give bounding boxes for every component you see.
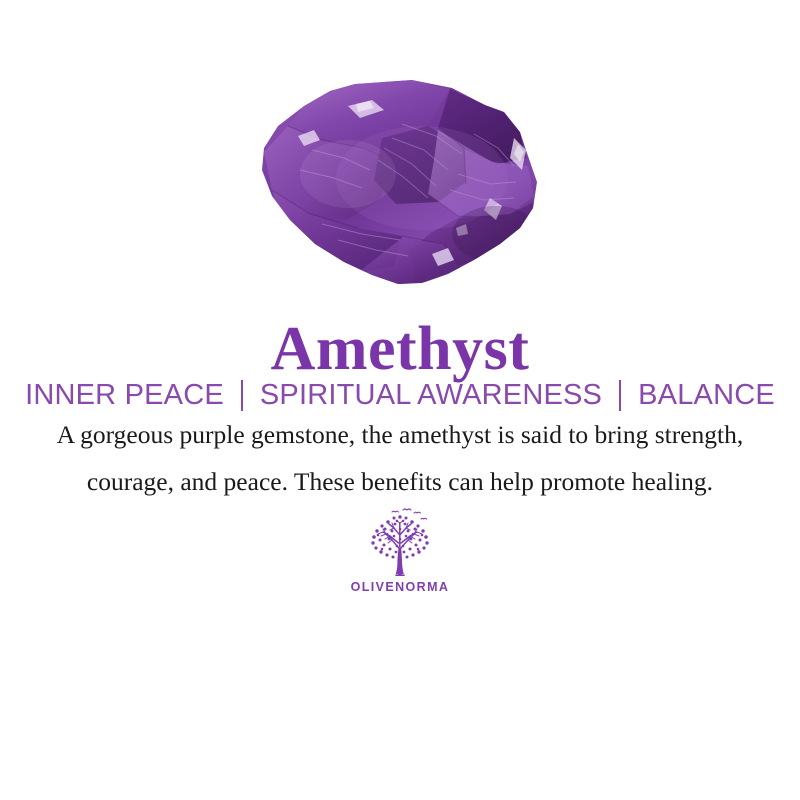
brand-wordmark: OLIVENORMA (351, 580, 450, 594)
brand-logo: OLIVENORMA (351, 505, 450, 594)
keyword-spiritual-awareness: SPIRITUAL AWARENESS (260, 381, 602, 410)
keyword-separator-2 (619, 380, 621, 411)
hero-image-area (0, 0, 800, 318)
amethyst-crystal-icon (252, 78, 548, 296)
page-title: Amethyst (271, 318, 530, 380)
product-highlight-card: Amethyst INNER PEACE SPIRITUAL AWARENESS… (0, 0, 800, 800)
keyword-balance: BALANCE (638, 381, 775, 410)
olive-tree-icon (359, 505, 441, 577)
keyword-separator-1 (241, 380, 243, 411)
description-text: A gorgeous purple gemstone, the amethyst… (50, 411, 750, 505)
amethyst-stone-image (252, 78, 548, 296)
keyword-inner-peace: INNER PEACE (25, 381, 224, 410)
keyword-list: INNER PEACE SPIRITUAL AWARENESS BALANCE (17, 380, 783, 411)
